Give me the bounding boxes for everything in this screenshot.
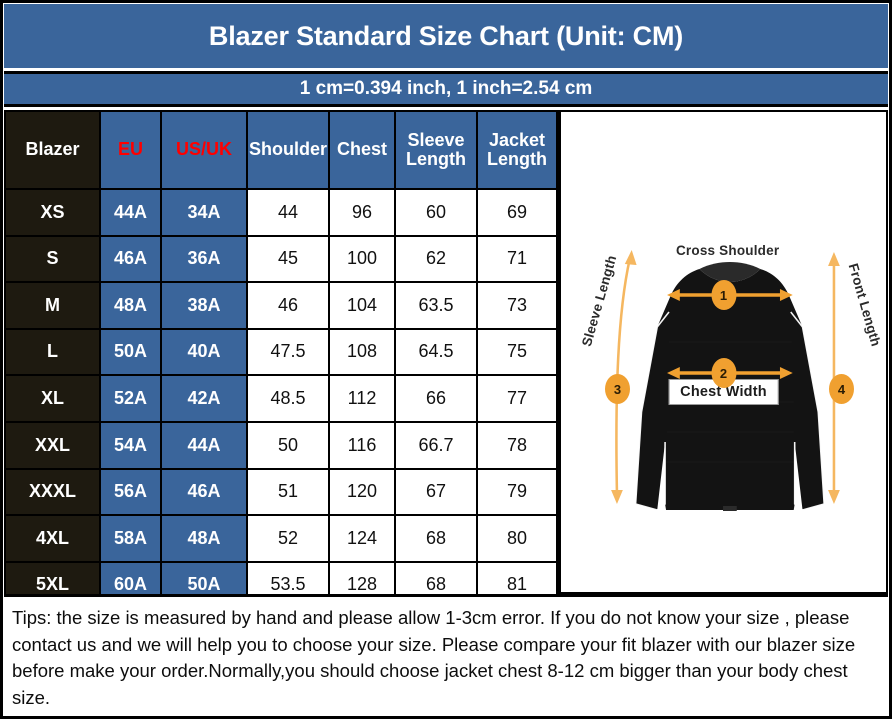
cell-usuk: 44A <box>161 422 247 469</box>
garment-diagram <box>561 112 886 592</box>
column-header-blazer: Blazer <box>5 111 100 189</box>
front-length-arrow-top <box>828 252 840 266</box>
column-header-us-uk: US/UK <box>161 111 247 189</box>
cell-jacket-length: 75 <box>477 329 557 376</box>
table-row: M48A38A4610463.573 <box>5 282 557 329</box>
cell-size: S <box>5 236 100 283</box>
sleeve-length-arrow-bottom <box>611 490 623 504</box>
cell-eu: 56A <box>100 469 161 516</box>
tips-box: Tips: the size is measured by hand and p… <box>4 594 888 715</box>
cell-eu: 50A <box>100 329 161 376</box>
cell-sleeve-length: 67 <box>395 469 477 516</box>
cell-eu: 44A <box>100 189 161 236</box>
cell-chest: 120 <box>329 469 395 516</box>
cell-jacket-length: 69 <box>477 189 557 236</box>
cell-usuk: 46A <box>161 469 247 516</box>
cell-size: 4XL <box>5 515 100 562</box>
cell-shoulder: 48.5 <box>247 375 329 422</box>
measurement-badge-2: 2 <box>711 358 736 388</box>
cell-shoulder: 44 <box>247 189 329 236</box>
table-row: XXXL56A46A511206779 <box>5 469 557 516</box>
measurement-badge-1: 1 <box>711 280 736 310</box>
cell-size: XXL <box>5 422 100 469</box>
cell-shoulder: 51 <box>247 469 329 516</box>
cell-size: L <box>5 329 100 376</box>
column-header-jacket-length: Jacket Length <box>477 111 557 189</box>
cell-sleeve-length: 66.7 <box>395 422 477 469</box>
unit-conversion-subtitle: 1 cm=0.394 inch, 1 inch=2.54 cm <box>4 71 888 107</box>
column-header-chest: Chest <box>329 111 395 189</box>
table-row: XXL54A44A5011666.778 <box>5 422 557 469</box>
cell-eu: 52A <box>100 375 161 422</box>
cell-usuk: 48A <box>161 515 247 562</box>
table-row: XL52A42A48.51126677 <box>5 375 557 422</box>
garment-illustration-panel: Cross Shoulder Sleeve Length Front Lengt… <box>558 110 888 594</box>
cell-eu: 58A <box>100 515 161 562</box>
column-header-shoulder: Shoulder <box>247 111 329 189</box>
cell-jacket-length: 71 <box>477 236 557 283</box>
page-title: Blazer Standard Size Chart (Unit: CM) <box>4 4 888 68</box>
cell-sleeve-length: 68 <box>395 515 477 562</box>
cell-usuk: 38A <box>161 282 247 329</box>
table-body: XS44A34A44966069S46A36A451006271M48A38A4… <box>5 189 557 608</box>
column-header-eu: EU <box>100 111 161 189</box>
measurement-badge-4: 4 <box>829 374 854 404</box>
cell-size: XS <box>5 189 100 236</box>
cell-chest: 100 <box>329 236 395 283</box>
size-table: Blazer EU US/UK Shoulder Chest Sleeve Le… <box>4 110 558 609</box>
cell-chest: 112 <box>329 375 395 422</box>
size-chart-page: Blazer Standard Size Chart (Unit: CM) 1 … <box>0 0 892 719</box>
cell-size: M <box>5 282 100 329</box>
main-region: Blazer EU US/UK Shoulder Chest Sleeve Le… <box>4 110 888 594</box>
cell-shoulder: 50 <box>247 422 329 469</box>
cell-size: XXXL <box>5 469 100 516</box>
cell-jacket-length: 79 <box>477 469 557 516</box>
column-header-sleeve-length: Sleeve Length <box>395 111 477 189</box>
cell-eu: 46A <box>100 236 161 283</box>
cell-eu: 54A <box>100 422 161 469</box>
cell-shoulder: 46 <box>247 282 329 329</box>
table-row: XS44A34A44966069 <box>5 189 557 236</box>
cell-shoulder: 45 <box>247 236 329 283</box>
cell-chest: 124 <box>329 515 395 562</box>
cell-size: XL <box>5 375 100 422</box>
sleeve-length-arrow-top <box>625 250 637 265</box>
cell-sleeve-length: 63.5 <box>395 282 477 329</box>
cell-shoulder: 47.5 <box>247 329 329 376</box>
cell-usuk: 36A <box>161 236 247 283</box>
cell-sleeve-length: 64.5 <box>395 329 477 376</box>
table-row: L50A40A47.510864.575 <box>5 329 557 376</box>
cell-jacket-length: 77 <box>477 375 557 422</box>
cell-usuk: 42A <box>161 375 247 422</box>
cell-jacket-length: 73 <box>477 282 557 329</box>
cell-usuk: 40A <box>161 329 247 376</box>
measurement-badge-3: 3 <box>605 374 630 404</box>
cell-usuk: 34A <box>161 189 247 236</box>
cross-shoulder-label: Cross Shoulder <box>676 243 779 258</box>
cell-jacket-length: 80 <box>477 515 557 562</box>
cell-jacket-length: 78 <box>477 422 557 469</box>
cell-chest: 108 <box>329 329 395 376</box>
cell-chest: 104 <box>329 282 395 329</box>
table-row: S46A36A451006271 <box>5 236 557 283</box>
cell-sleeve-length: 62 <box>395 236 477 283</box>
cell-chest: 96 <box>329 189 395 236</box>
table-row: 4XL58A48A521246880 <box>5 515 557 562</box>
cell-shoulder: 52 <box>247 515 329 562</box>
table-header-row: Blazer EU US/UK Shoulder Chest Sleeve Le… <box>5 111 557 189</box>
cell-sleeve-length: 66 <box>395 375 477 422</box>
front-length-arrow-bottom <box>828 490 840 504</box>
cell-sleeve-length: 60 <box>395 189 477 236</box>
cell-chest: 116 <box>329 422 395 469</box>
tips-text: Tips: the size is measured by hand and p… <box>12 605 878 712</box>
cell-eu: 48A <box>100 282 161 329</box>
